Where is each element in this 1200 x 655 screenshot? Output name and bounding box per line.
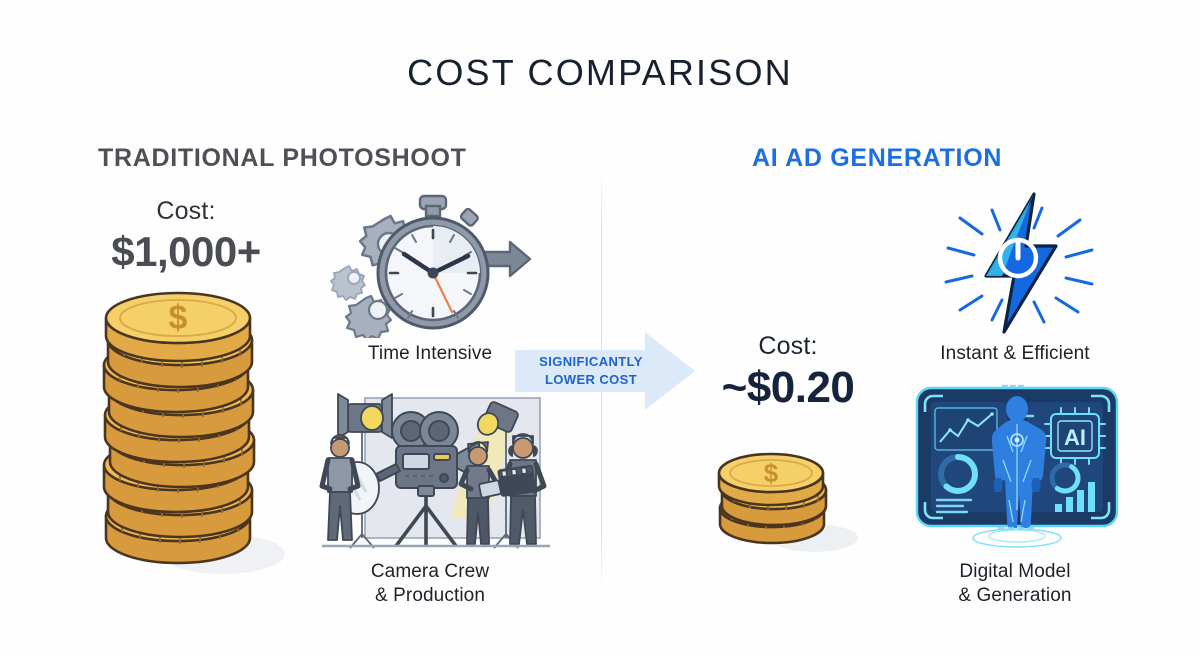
caption-digital-model-line1: Digital Model — [912, 560, 1118, 584]
caption-instant-efficient: Instant & Efficient — [912, 342, 1118, 366]
caption-camera-crew: Camera Crew & Production — [330, 560, 530, 609]
right-cost-block: Cost: ~$0.20 — [688, 333, 888, 413]
right-cost-label: Cost: — [688, 333, 888, 361]
page-title: COST COMPARISON — [0, 52, 1200, 94]
caption-time-intensive: Time Intensive — [330, 342, 530, 366]
ai-chip-icon: AI — [1045, 408, 1105, 464]
left-cost-value: $1,000+ — [78, 228, 294, 276]
caption-camera-crew-line1: Camera Crew — [330, 560, 530, 584]
coin-dollar-symbol: $ — [764, 458, 779, 488]
ai-digital-model-screen-icon: AI — [903, 382, 1131, 552]
screen-line-chart-icon — [935, 408, 997, 450]
caption-digital-model-line2: & Generation — [912, 584, 1118, 608]
tall-coin-stack-icon: $ — [88, 282, 298, 582]
right-column-header: AI AD GENERATION — [752, 144, 1002, 173]
ai-chip-label: AI — [1064, 425, 1086, 450]
caption-camera-crew-line2: & Production — [330, 584, 530, 608]
stopwatch-gears-icon — [330, 190, 540, 338]
left-cost-label: Cost: — [78, 198, 294, 226]
right-arrow-banner-icon: SIGNIFICANTLY LOWER COST — [515, 330, 697, 412]
cost-comparison-infographic: COST COMPARISON TRADITIONAL PHOTOSHOOT A… — [0, 0, 1200, 655]
lightning-bolt-power-icon — [930, 190, 1110, 336]
small-coin-stack-icon: $ — [708, 438, 870, 560]
coin-dollar-symbol: $ — [169, 299, 188, 337]
caption-digital-model: Digital Model & Generation — [912, 560, 1118, 609]
left-column-header: TRADITIONAL PHOTOSHOOT — [98, 144, 467, 173]
right-cost-value: ~$0.20 — [688, 363, 888, 414]
left-cost-block: Cost: $1,000+ — [78, 198, 294, 276]
